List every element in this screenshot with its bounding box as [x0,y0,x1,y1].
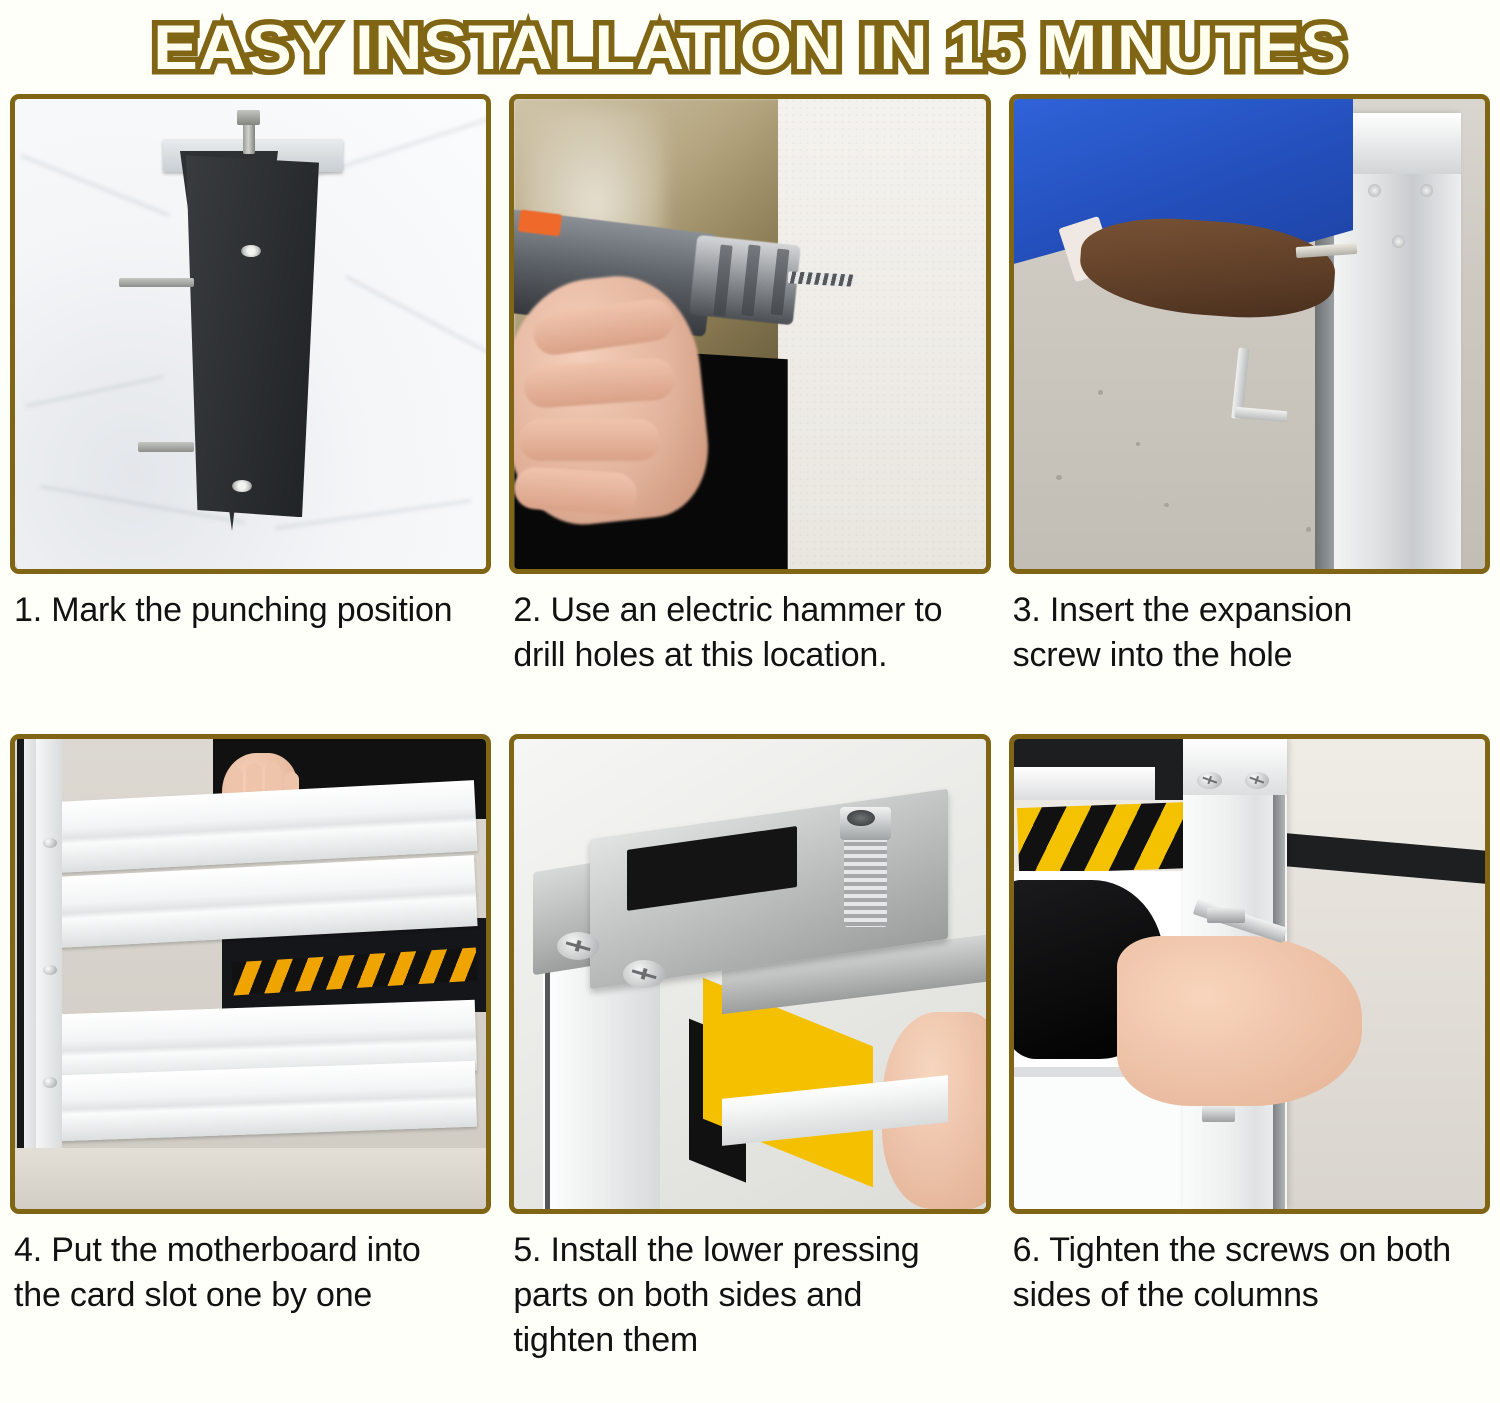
steps-row-bottom: 4. Put the motherboard into the card slo… [0,734,1500,1374]
step-card-6: 6. Tighten the screws on both sides of t… [1009,734,1490,1374]
phillips-screw-icon [1197,772,1222,789]
phillips-screw-icon [623,960,665,988]
caption-line: 1. Mark the punching position [14,588,489,633]
step-card-1: 1. Mark the punching position [10,94,491,734]
step-card-3: 3. Insert the expansion screw into the h… [1009,94,1490,734]
installation-guide-page: EASY INSTALLATION IN 15 MINUTES [0,0,1500,1403]
step-card-5: 5. Install the lower pressing parts on b… [509,734,990,1374]
caption-line: drill holes at this location. [513,633,988,678]
photo-drill-holes [514,99,985,569]
step-caption-6: 6. Tighten the screws on both sides of t… [1009,1214,1490,1318]
caption-line: 5. Install the lower pressing [513,1228,988,1273]
caption-line: screw into the hole [1013,633,1488,678]
step-caption-1: 1. Mark the punching position [10,574,491,633]
photo-mark-punching-position [15,99,486,569]
photo-tighten-column-screws [1014,739,1485,1209]
caption-line: 3. Insert the expansion [1013,588,1488,633]
phillips-screw-icon [1245,772,1270,789]
caption-line: 4. Put the motherboard into [14,1228,489,1273]
banner: EASY INSTALLATION IN 15 MINUTES [0,0,1500,94]
step-photo-6 [1009,734,1490,1214]
step-card-2: 2. Use an electric hammer to drill holes… [509,94,990,734]
step-caption-3: 3. Insert the expansion screw into the h… [1009,574,1490,678]
phillips-screw-icon [557,932,599,960]
steps-row-top: 1. Mark the punching position [0,94,1500,734]
caption-line: 2. Use an electric hammer to [513,588,988,633]
caption-line: sides of the columns [1013,1273,1488,1318]
step-photo-5 [509,734,990,1214]
step-card-4: 4. Put the motherboard into the card slo… [10,734,491,1374]
page-title: EASY INSTALLATION IN 15 MINUTES [154,12,1347,84]
photo-insert-motherboards [15,739,486,1209]
step-caption-4: 4. Put the motherboard into the card slo… [10,1214,491,1318]
photo-install-pressing-parts [514,739,985,1209]
step-photo-3 [1009,94,1490,574]
step-photo-1 [10,94,491,574]
step-photo-4 [10,734,491,1214]
caption-line: 6. Tighten the screws on both [1013,1228,1488,1273]
step-caption-5: 5. Install the lower pressing parts on b… [509,1214,990,1363]
photo-insert-expansion-screw [1014,99,1485,569]
step-photo-2 [509,94,990,574]
step-caption-2: 2. Use an electric hammer to drill holes… [509,574,990,678]
caption-line: tighten them [513,1318,988,1363]
caption-line: parts on both sides and [513,1273,988,1318]
caption-line: the card slot one by one [14,1273,489,1318]
